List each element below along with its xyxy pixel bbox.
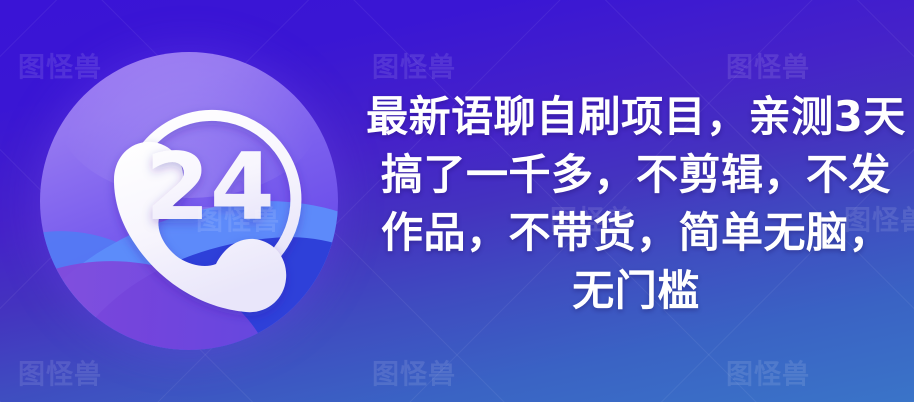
svg-text:24: 24 [145, 133, 274, 241]
watermark-text: 图怪兽 [726, 353, 810, 392]
watermark-text: 图怪兽 [372, 46, 456, 85]
phone-24-hour-icon: 24 [40, 52, 338, 350]
page-title: 最新语聊自刷项目，亲测3天搞了一千多，不剪辑，不发作品，不带货，简单无脑，无门槛 [362, 88, 910, 320]
watermark-text: 图怪兽 [726, 46, 810, 85]
watermark-text: 图怪兽 [372, 353, 456, 392]
phone-24-badge: 24 [40, 52, 338, 350]
watermark-text: 图怪兽 [18, 353, 102, 392]
promo-poster: 24 最新语聊自刷项目，亲测3天搞了一千多，不剪辑，不发作品，不带货，简单无脑，… [0, 0, 914, 402]
badge-number-24: 24 [145, 133, 274, 241]
